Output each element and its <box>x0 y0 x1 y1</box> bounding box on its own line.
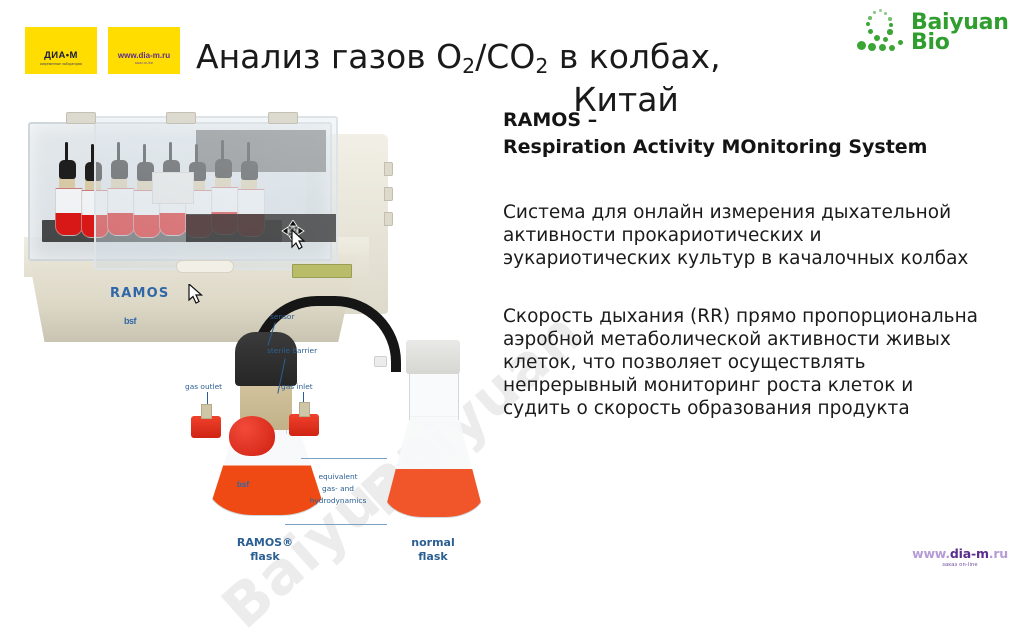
diam-logo-box: ДИА•М современные лаборатории <box>25 27 97 74</box>
label-equivalent-line-1: equivalent <box>293 472 383 481</box>
ramos-flask-caption-l1: RAMOS® <box>237 536 293 549</box>
device-side-knob[interactable] <box>384 187 393 201</box>
diam-logo-subtitle: современные лаборатории <box>40 62 83 66</box>
gas-inlet-arrow <box>303 392 304 402</box>
normal-flask-caption: normal flask <box>381 536 485 564</box>
gas-inlet-nipple <box>299 402 310 417</box>
footer-url-tld: .ru <box>989 546 1008 561</box>
description-paragraph-2: Скорость дыхания (RR) прямо пропорционал… <box>503 305 985 420</box>
content-text-column: RAMOS – Respiration Activity MOnitoring … <box>503 107 985 439</box>
gas-outlet-nipple <box>201 404 212 419</box>
footer-url: www.dia-m.ru <box>912 546 1008 561</box>
device-hinge <box>268 112 298 124</box>
sensor-head-black <box>235 332 297 386</box>
device-display-panel <box>292 264 352 278</box>
device-side-knob[interactable] <box>384 162 393 176</box>
device-hinge <box>66 112 96 124</box>
baiyuan-line-2: Bio <box>911 33 1009 53</box>
label-sensor: sensor <box>270 312 295 321</box>
diam-logo-text: ДИА•М <box>44 50 78 61</box>
device-front-foot <box>176 260 234 273</box>
dia-m-url-box[interactable]: www.dia-m.ru заказ on-line <box>108 27 180 74</box>
baiyuan-bio-logo: Baiyuan Bio <box>854 6 1012 60</box>
device-side-knob[interactable] <box>384 212 393 226</box>
device-hinge <box>166 112 196 124</box>
label-equivalent-line-2: gas- and <box>293 484 383 493</box>
description-paragraph-1: Система для онлайн измерения дыхательной… <box>503 201 985 270</box>
equivalence-line-bottom <box>285 524 387 525</box>
gas-outlet-port <box>191 416 221 438</box>
baiyuan-bio-wordmark: Baiyuan Bio <box>911 13 1009 54</box>
dia-m-url-subtitle: заказ on-line <box>135 61 153 65</box>
ramos-heading-line-2: Respiration Activity MOnitoring System <box>503 134 985 161</box>
equivalence-line-top <box>301 458 387 459</box>
device-front-label: RAMOS <box>110 286 169 301</box>
flask-comparison-diagram: Baiyuan Baiyuan bsf sensor sterile barri… <box>185 296 490 576</box>
flask-brand-logo: bsf <box>237 480 249 489</box>
move-cursor <box>280 220 314 259</box>
baiyuan-flask-dots-icon <box>854 8 906 58</box>
ramos-flask-caption: RAMOS® flask <box>205 536 325 564</box>
gas-inlet-port <box>289 414 319 436</box>
red-screw-cap <box>229 416 275 456</box>
label-equivalent-line-3: hydrodynamics <box>289 496 387 505</box>
normal-flask-neck <box>409 368 459 420</box>
normal-flask-caption-l1: normal <box>411 536 454 549</box>
label-gas-inlet: gas inlet <box>281 382 313 391</box>
gas-outlet-arrow <box>207 392 208 404</box>
normal-flask-plug <box>406 340 460 374</box>
slide-canvas: ДИА•М современные лаборатории www.dia-m.… <box>0 0 1024 576</box>
sterile-barrier-tip <box>374 356 387 367</box>
label-sterile-barrier: sterile barrier <box>267 346 317 355</box>
device-sub-logo: bsf <box>124 316 136 326</box>
label-gas-outlet: gas outlet <box>185 382 222 391</box>
normal-flask-caption-l2: flask <box>418 550 447 563</box>
ramos-heading-line-1: RAMOS – <box>503 107 985 134</box>
footer-url-www: www. <box>912 546 950 561</box>
footer-dia-m-logo[interactable]: www.dia-m.ru заказ on-line <box>912 546 1008 568</box>
dia-m-url-text: www.dia-m.ru <box>118 51 170 60</box>
pointer-cursor <box>188 284 204 311</box>
footer-url-domain: dia-m <box>950 546 989 561</box>
ramos-flask-caption-l2: flask <box>250 550 279 563</box>
footer-subtitle: заказ on-line <box>912 562 1008 568</box>
